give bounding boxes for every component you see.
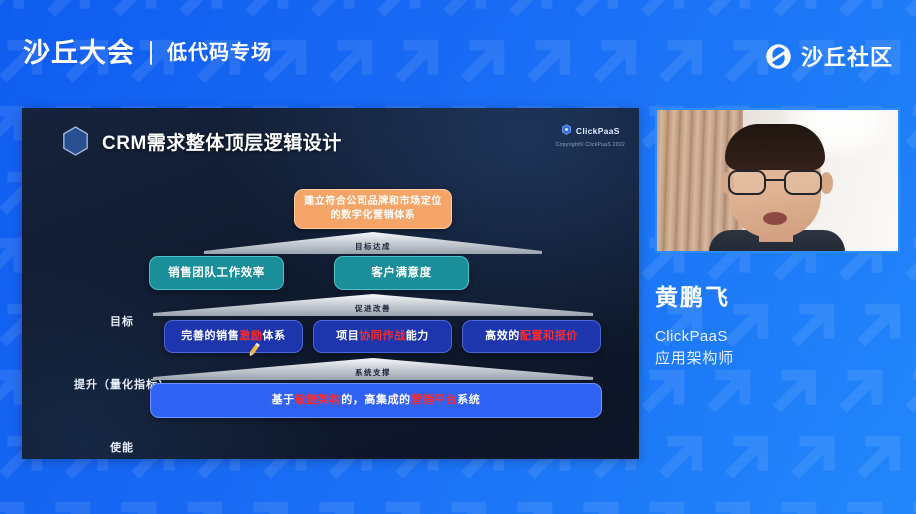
enable-box-3[interactable]: 高效的配置和报价 <box>462 320 601 353</box>
arrow-up-right-icon <box>648 428 710 490</box>
arrow-up-right-icon <box>894 494 916 514</box>
arrow-up-right-icon <box>564 494 626 514</box>
enable-box-1-post: 体系 <box>263 329 286 345</box>
arrow-up-right-icon <box>846 428 908 490</box>
site-logo[interactable]: 沙丘社区 <box>765 40 893 72</box>
arrow-up-right-icon <box>894 362 916 424</box>
band-goal-achievement: 目标达成 <box>204 232 542 254</box>
arrow-up-right-icon <box>300 494 362 514</box>
arrow-up-right-icon <box>168 494 230 514</box>
enable-box-3-highlight: 配置和报价 <box>520 329 578 345</box>
glasses-icon <box>727 170 823 196</box>
arrow-up-right-icon <box>0 494 32 514</box>
band-goal-achievement-label: 目标达成 <box>355 241 391 252</box>
arrow-up-right-icon <box>912 428 916 490</box>
enable-box-2[interactable]: 项目协同作战能力 <box>313 320 452 353</box>
arrow-up-right-icon <box>696 494 758 514</box>
site-logo-text: 沙丘社区 <box>801 40 893 72</box>
support-box[interactable]: 基于敏捷架构的，高集成的营销平台系统 <box>150 383 602 418</box>
enable-box-1-highlight: 激励 <box>239 329 262 345</box>
support-box-highlight-1: 敏捷架构 <box>295 393 341 409</box>
speaker-info: 黄鹏飞 ClickPaaS 应用架构师 <box>655 282 905 370</box>
row-label-goal: 目标 <box>110 313 134 329</box>
support-box-highlight-2: 营销平台 <box>411 393 457 409</box>
slide-canvas[interactable]: CRM需求整体顶层逻辑设计 ClickPaaS Copyright© Click… <box>22 108 639 459</box>
arrow-up-right-icon <box>762 362 824 424</box>
row-label-enable: 使能 <box>110 439 134 455</box>
arrow-up-right-icon <box>498 494 560 514</box>
arrow-up-right-icon <box>234 494 296 514</box>
arrow-up-right-icon <box>696 362 758 424</box>
band-system-support-label: 系统支撑 <box>355 367 391 378</box>
band-promote-improvement: 促进改善 <box>153 294 593 316</box>
presentation-stage: 沙丘大会 低代码专场 沙丘社区 CRM需求整体顶层逻辑设计 <box>0 0 916 514</box>
speaker-hair <box>725 124 825 170</box>
arrow-up-right-icon <box>780 428 842 490</box>
enable-box-1[interactable]: 完善的销售激励体系 <box>164 320 303 353</box>
event-title: 沙丘大会 <box>23 38 135 68</box>
arrow-up-right-icon <box>630 362 692 424</box>
band-promote-improvement-label: 促进改善 <box>355 303 391 314</box>
page-header: 沙丘大会 低代码专场 沙丘社区 <box>0 0 916 100</box>
arrow-up-right-icon <box>36 494 98 514</box>
arrow-up-right-icon <box>912 164 916 226</box>
arrow-up-right-icon <box>828 494 890 514</box>
support-box-pre: 基于 <box>272 393 295 409</box>
event-branding: 沙丘大会 低代码专场 <box>23 38 272 68</box>
support-box-post: 系统 <box>457 393 480 409</box>
slide-title: CRM需求整体顶层逻辑设计 <box>102 128 342 155</box>
enable-box-2-pre: 项目 <box>336 329 359 345</box>
goal-box-line1: 建立符合公司品牌和市场定位 <box>304 195 442 210</box>
speaker-name: 黄鹏飞 <box>655 282 905 312</box>
enable-box-1-pre: 完善的销售 <box>181 329 239 345</box>
hexagon-icon <box>62 126 89 156</box>
s-swirl-icon <box>765 43 792 70</box>
arrow-up-right-icon <box>828 362 890 424</box>
speaker-portrait <box>707 124 847 253</box>
arrow-up-right-icon <box>714 428 776 490</box>
arrow-up-right-icon <box>432 494 494 514</box>
speaker-mouth <box>763 212 787 225</box>
support-box-mid: 的，高集成的 <box>341 393 411 409</box>
arrow-up-right-icon <box>366 494 428 514</box>
arrow-up-right-icon <box>912 296 916 358</box>
arrow-up-right-icon <box>762 494 824 514</box>
speaker-video-feed[interactable] <box>655 108 900 253</box>
speaker-organization: ClickPaaS <box>655 326 905 348</box>
event-subtitle: 低代码专场 <box>167 41 272 65</box>
clickpaas-copyright: Copyright© ClickPaaS 2022 <box>556 142 625 148</box>
band-system-support: 系统支撑 <box>153 358 593 380</box>
speaker-role: 应用架构师 <box>655 348 905 370</box>
enable-box-3-pre: 高效的 <box>485 329 520 345</box>
clickpaas-name: ClickPaaS <box>576 126 620 136</box>
clickpaas-watermark: ClickPaaS Copyright© ClickPaaS 2022 <box>556 122 625 148</box>
metric-box-1[interactable]: 销售团队工作效率 <box>149 256 284 290</box>
clickpaas-hex-icon <box>561 122 572 140</box>
goal-box-line2: 的数字化营销体系 <box>331 209 416 224</box>
arrow-up-right-icon <box>102 494 164 514</box>
title-divider <box>150 41 152 65</box>
metric-box-2[interactable]: 客户满意度 <box>334 256 469 290</box>
arrow-up-right-icon <box>630 494 692 514</box>
slide-title-row: CRM需求整体顶层逻辑设计 <box>62 126 342 156</box>
goal-box[interactable]: 建立符合公司品牌和市场定位 的数字化营销体系 <box>294 189 452 229</box>
enable-box-2-post: 能力 <box>406 329 429 345</box>
enable-box-2-highlight: 协同作战 <box>359 329 405 345</box>
